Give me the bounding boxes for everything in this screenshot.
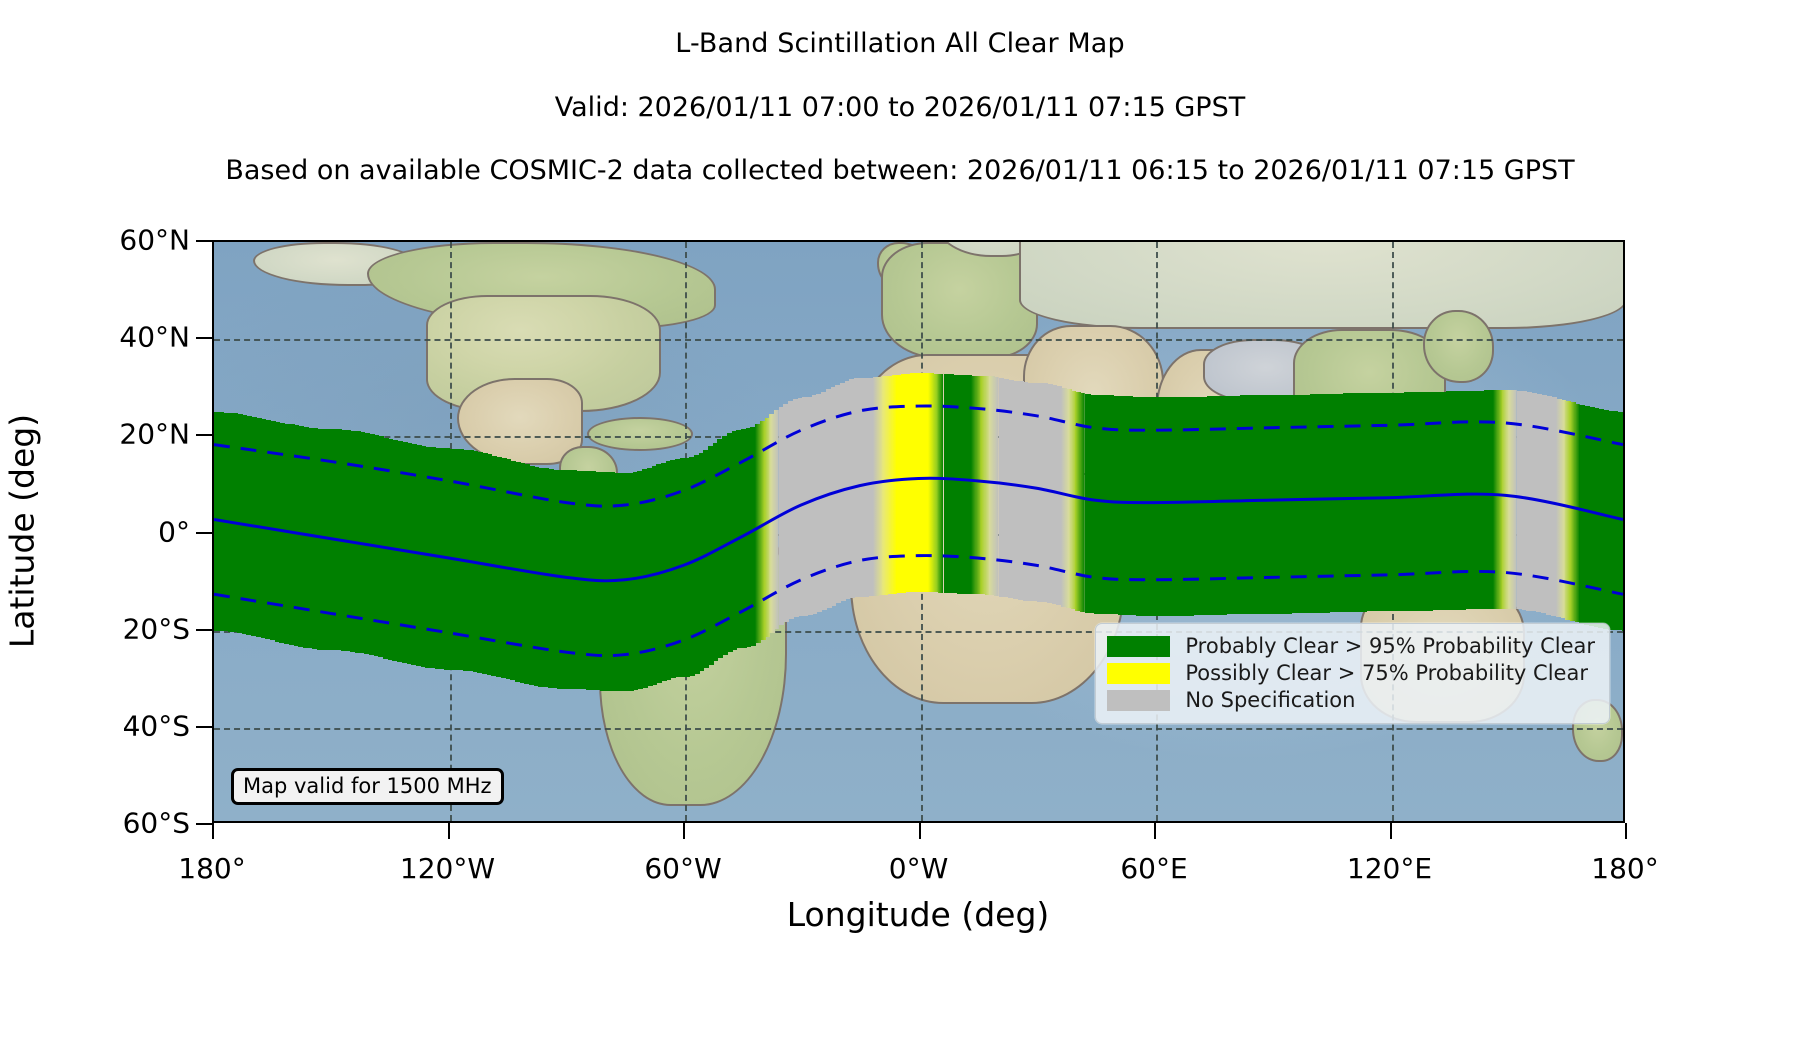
map-plot-area[interactable]: Probably Clear > 95% Probability ClearPo… bbox=[212, 240, 1625, 823]
x-tick bbox=[919, 823, 921, 839]
y-tick bbox=[196, 823, 212, 825]
legend-label: Possibly Clear > 75% Probability Clear bbox=[1185, 663, 1588, 684]
y-tick-label: 40°S bbox=[123, 709, 190, 742]
legend-swatch-possibly-clear bbox=[1107, 663, 1170, 684]
y-tick bbox=[196, 337, 212, 339]
page-title: L-Band Scintillation All Clear Map bbox=[0, 28, 1800, 59]
legend-label: No Specification bbox=[1185, 690, 1355, 711]
x-tick-label: 60°W bbox=[644, 852, 721, 885]
data-source-text: Based on available COSMIC-2 data collect… bbox=[0, 155, 1800, 186]
legend-item-possibly-clear: Possibly Clear > 75% Probability Clear bbox=[1107, 660, 1595, 687]
x-tick-label: 0°W bbox=[889, 852, 949, 885]
legend-swatch-no-specification bbox=[1107, 690, 1170, 711]
y-tick-label: 20°N bbox=[119, 418, 190, 451]
band-north-boundary bbox=[214, 406, 1623, 506]
y-tick bbox=[196, 629, 212, 631]
x-tick-label: 60°E bbox=[1120, 852, 1187, 885]
legend-swatch-probably-clear bbox=[1107, 636, 1170, 657]
y-tick bbox=[196, 240, 212, 242]
x-tick-label: 120°W bbox=[400, 852, 495, 885]
y-tick-label: 20°S bbox=[123, 612, 190, 645]
x-tick-label: 180° bbox=[1591, 852, 1658, 885]
y-tick bbox=[196, 532, 212, 534]
x-tick-label: 120°E bbox=[1347, 852, 1432, 885]
x-tick bbox=[448, 823, 450, 839]
y-tick-label: 60°N bbox=[119, 224, 190, 257]
legend-label: Probably Clear > 95% Probability Clear bbox=[1185, 636, 1595, 657]
y-tick bbox=[196, 726, 212, 728]
x-tick bbox=[212, 823, 214, 839]
y-tick-label: 40°N bbox=[119, 321, 190, 354]
legend-item-probably-clear: Probably Clear > 95% Probability Clear bbox=[1107, 633, 1595, 660]
magnetic-equator-curves bbox=[214, 242, 1623, 821]
y-axis-title: Latitude (deg) bbox=[3, 414, 42, 648]
map-legend: Probably Clear > 95% Probability ClearPo… bbox=[1095, 623, 1610, 724]
x-tick-label: 180° bbox=[178, 852, 245, 885]
x-tick bbox=[683, 823, 685, 839]
legend-item-no-specification: No Specification bbox=[1107, 687, 1595, 714]
map-canvas: Probably Clear > 95% Probability ClearPo… bbox=[214, 242, 1623, 821]
magnetic-equator-line bbox=[214, 478, 1623, 581]
x-tick bbox=[1625, 823, 1627, 839]
frequency-annotation: Map valid for 1500 MHz bbox=[231, 768, 504, 805]
y-tick-label: 0° bbox=[158, 515, 190, 548]
y-tick bbox=[196, 434, 212, 436]
title-block: L-Band Scintillation All Clear Map Valid… bbox=[0, 0, 1800, 186]
x-tick bbox=[1390, 823, 1392, 839]
valid-period-text: Valid: 2026/01/11 07:00 to 2026/01/11 07… bbox=[0, 92, 1800, 123]
x-tick bbox=[1154, 823, 1156, 839]
y-tick-label: 60°S bbox=[123, 807, 190, 840]
x-axis-title: Longitude (deg) bbox=[787, 895, 1050, 934]
